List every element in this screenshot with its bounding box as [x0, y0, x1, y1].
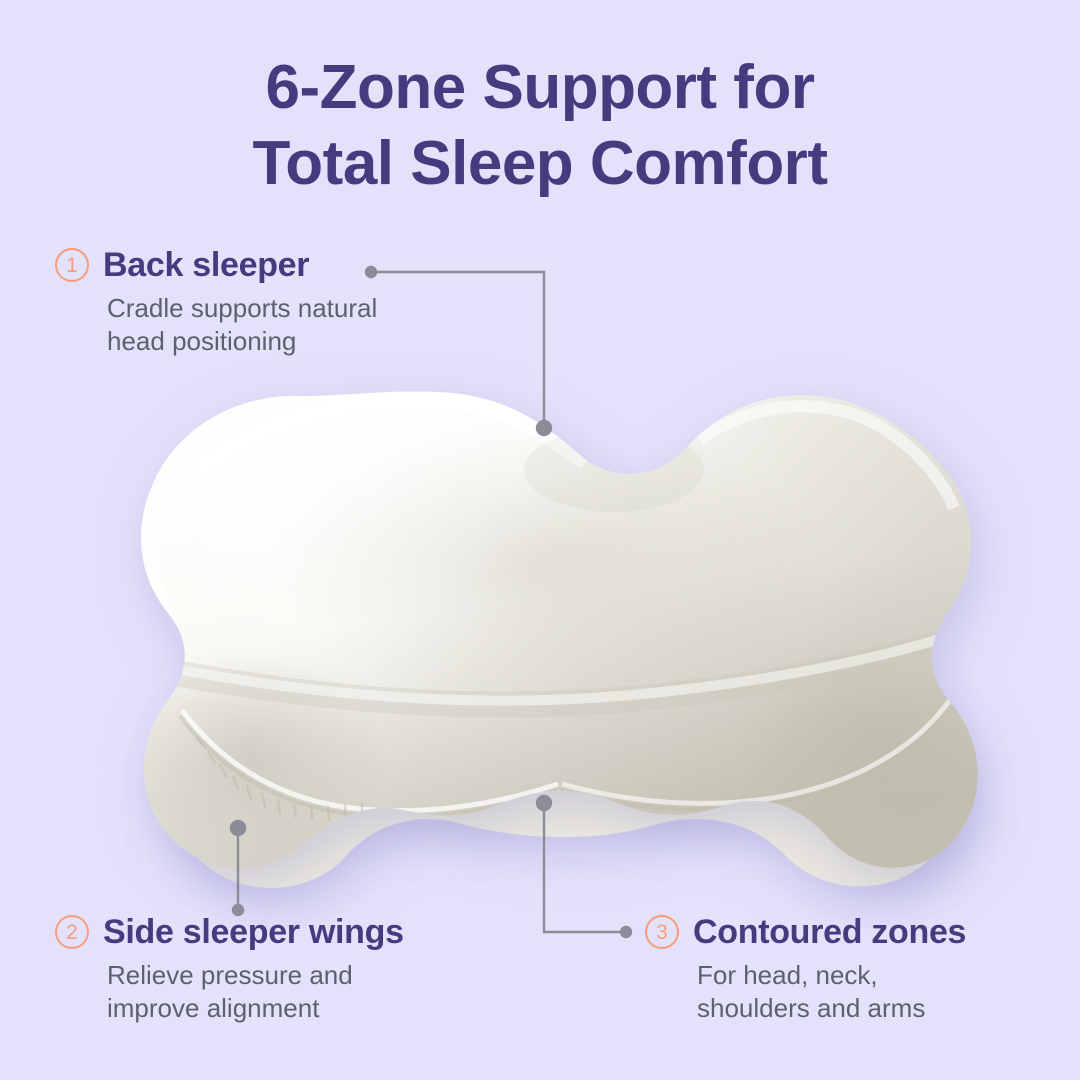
callout-2-body: Relieve pressure and improve alignment — [107, 959, 404, 1026]
callout-1-body: Cradle supports natural head positioning — [107, 292, 377, 359]
callout-3-header: 3 Contoured zones — [645, 915, 966, 949]
callout-2-number-badge: 2 — [55, 915, 89, 949]
callout-3-number-badge: 3 — [645, 915, 679, 949]
callout-3-body: For head, neck, shoulders and arms — [697, 959, 966, 1026]
leader-line-3 — [537, 796, 631, 937]
callout-side-sleeper-wings: 2 Side sleeper wings Relieve pressure an… — [55, 915, 404, 1026]
callout-3-title: Contoured zones — [693, 915, 966, 949]
leader-line-2 — [231, 821, 245, 915]
callout-1-header: 1 Back sleeper — [55, 248, 377, 282]
callout-2-title: Side sleeper wings — [103, 915, 404, 949]
infographic-canvas: 6-Zone Support for Total Sleep Comfort — [0, 0, 1080, 1080]
callout-2-header: 2 Side sleeper wings — [55, 915, 404, 949]
callout-1-number-badge: 1 — [55, 248, 89, 282]
leader-line-1 — [366, 267, 551, 435]
callout-back-sleeper: 1 Back sleeper Cradle supports natural h… — [55, 248, 377, 359]
callout-contoured-zones: 3 Contoured zones For head, neck, should… — [645, 915, 966, 1026]
callout-1-title: Back sleeper — [103, 248, 309, 282]
